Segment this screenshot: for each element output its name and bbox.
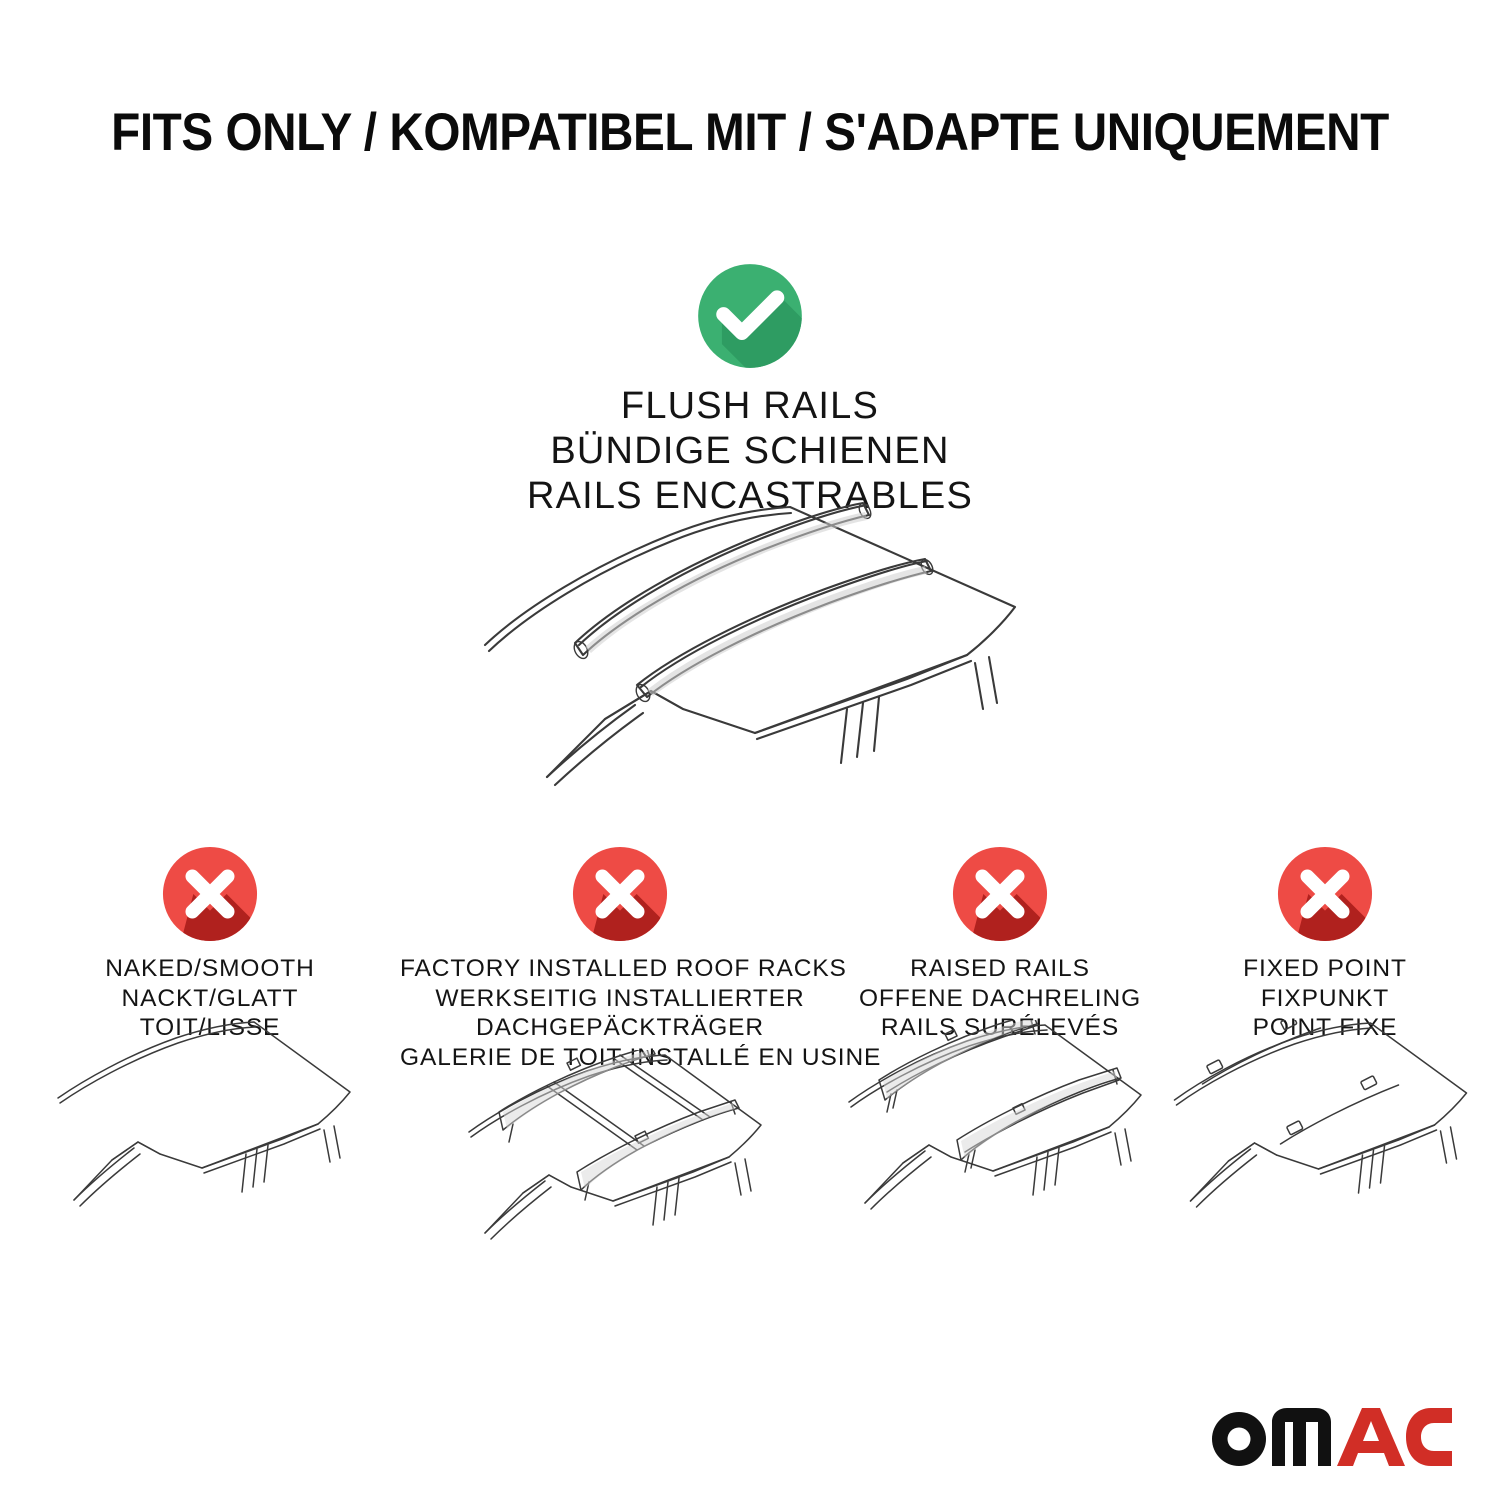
compatible-section: FLUSH RAILS BÜNDIGE SCHIENEN RAILS ENCAS… [250, 262, 1250, 519]
option-label-de: FIXPUNKT [1165, 984, 1485, 1014]
cross-badge-wrap [1165, 845, 1485, 943]
option-label-en: NAKED/SMOOTH [35, 954, 385, 984]
car-roof-bare-illustration [50, 1020, 370, 1230]
car-roof-with-fixed-points-illustration [1163, 1020, 1488, 1232]
logo-letter-c [1406, 1408, 1452, 1466]
option-label-en: RAISED RAILS [835, 954, 1165, 984]
incompatible-section: NAKED/SMOOTH NACKT/GLATT TOIT/LISSE [0, 845, 1500, 1465]
option-label-de-line1: WERKSEITIG INSTALLIERTER [400, 984, 840, 1014]
incompatible-option-factory-installed-roof-racks: FACTORY INSTALLED ROOF RACKS WERKSEITIG … [400, 845, 840, 1072]
compatible-label-de: BÜNDIGE SCHIENEN [250, 429, 1250, 474]
omac-logo [1210, 1404, 1452, 1470]
option-label-en: FACTORY INSTALLED ROOF RACKS [400, 954, 840, 984]
incompatible-option-naked-smooth: NAKED/SMOOTH NACKT/GLATT TOIT/LISSE [35, 845, 385, 1043]
logo-letter-a [1337, 1408, 1405, 1466]
logo-letter-o [1212, 1412, 1266, 1466]
cross-circle-icon [951, 845, 1049, 943]
incompatible-option-raised-rails: RAISED RAILS OFFENE DACHRELING RAILS SUR… [835, 845, 1165, 1043]
car-roof-with-factory-crossbars-illustration [455, 1050, 785, 1262]
cross-badge-wrap [835, 845, 1165, 943]
option-label-de: OFFENE DACHRELING [835, 984, 1165, 1014]
option-label-de-line2: DACHGEPÄCKTRÄGER [400, 1013, 840, 1043]
page-title: FITS ONLY / KOMPATIBEL MIT / S'ADAPTE UN… [75, 103, 1425, 163]
cross-badge-wrap [35, 845, 385, 943]
incompatible-option-fixed-point: FIXED POINT FIXPUNKT POINT FIXE [1165, 845, 1485, 1043]
check-circle-icon [696, 262, 804, 370]
car-roof-with-raised-rails-illustration [835, 1020, 1165, 1232]
cross-circle-icon [161, 845, 259, 943]
option-label-en: FIXED POINT [1165, 954, 1485, 984]
logo-letter-m [1272, 1408, 1331, 1466]
check-badge-wrap [250, 262, 1250, 370]
car-roof-with-flush-rails-illustration [455, 495, 1055, 795]
cross-circle-icon [571, 845, 669, 943]
cross-circle-icon [1276, 845, 1374, 943]
option-label-de: NACKT/GLATT [35, 984, 385, 1014]
cross-badge-wrap [400, 845, 840, 943]
compatible-label-en: FLUSH RAILS [250, 384, 1250, 429]
